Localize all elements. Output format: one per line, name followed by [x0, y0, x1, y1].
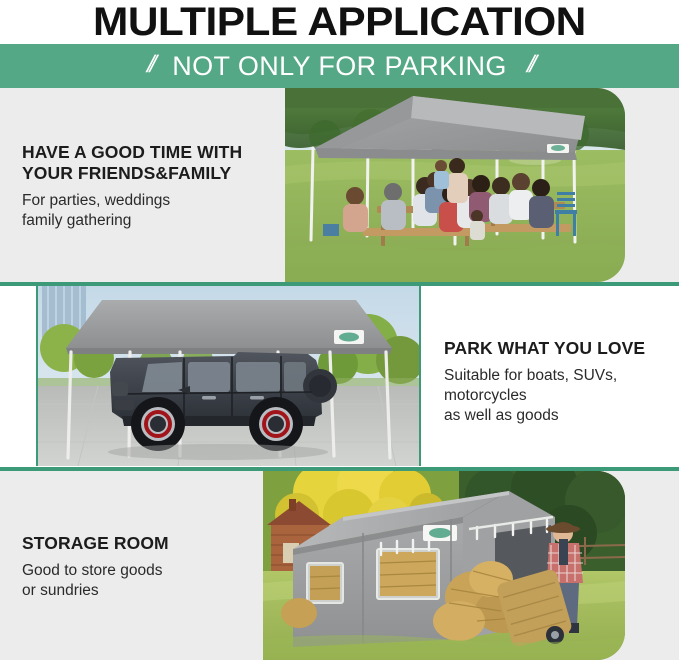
panel-3-sub-line-2: or sundries — [22, 581, 169, 601]
slash-left-icon: // — [144, 53, 156, 79]
panel-2-text-block: PARK WHAT YOU LOVE Suitable for boats, S… — [444, 338, 645, 426]
slash-right-icon: // — [524, 53, 536, 79]
panel-1-sub-line-1: For parties, weddings — [22, 191, 242, 211]
panel-3-text-block: STORAGE ROOM Good to store goods or sund… — [22, 533, 169, 601]
panel-2-photo — [36, 286, 421, 466]
panel-3-sub-line-1: Good to store goods — [22, 561, 169, 581]
panel-1-photo — [285, 88, 625, 282]
panel-2-sub-line-3: as well as goods — [444, 406, 645, 426]
feature-panel-parking: PARK WHAT YOU LOVE Suitable for boats, S… — [0, 286, 679, 466]
header-title-container: MULTIPLE APPLICATION — [0, 0, 679, 44]
feature-panel-storage: STORAGE ROOM Good to store goods or sund… — [0, 471, 679, 660]
page-title: MULTIPLE APPLICATION — [93, 2, 586, 42]
panel-1-heading-line-2: YOUR FRIENDS&FAMILY — [22, 163, 242, 184]
panel-2-sub-line-1: Suitable for boats, SUVs, — [444, 366, 645, 386]
panel-1-text-block: HAVE A GOOD TIME WITH YOUR FRIENDS&FAMIL… — [22, 142, 242, 231]
panel-3-photo — [263, 471, 625, 660]
panel-2-heading-line-1: PARK WHAT YOU LOVE — [444, 338, 645, 359]
panel-1-heading-line-1: HAVE A GOOD TIME WITH — [22, 142, 242, 163]
header-subtitle-band: // NOT ONLY FOR PARKING // — [0, 44, 679, 88]
feature-panel-family: HAVE A GOOD TIME WITH YOUR FRIENDS&FAMIL… — [0, 88, 679, 282]
panel-2-sub-line-2: motorcycles — [444, 386, 645, 406]
panel-1-sub-line-2: family gathering — [22, 211, 242, 231]
panel-3-heading-line-1: STORAGE ROOM — [22, 533, 169, 554]
header-subtitle: NOT ONLY FOR PARKING — [172, 53, 507, 80]
